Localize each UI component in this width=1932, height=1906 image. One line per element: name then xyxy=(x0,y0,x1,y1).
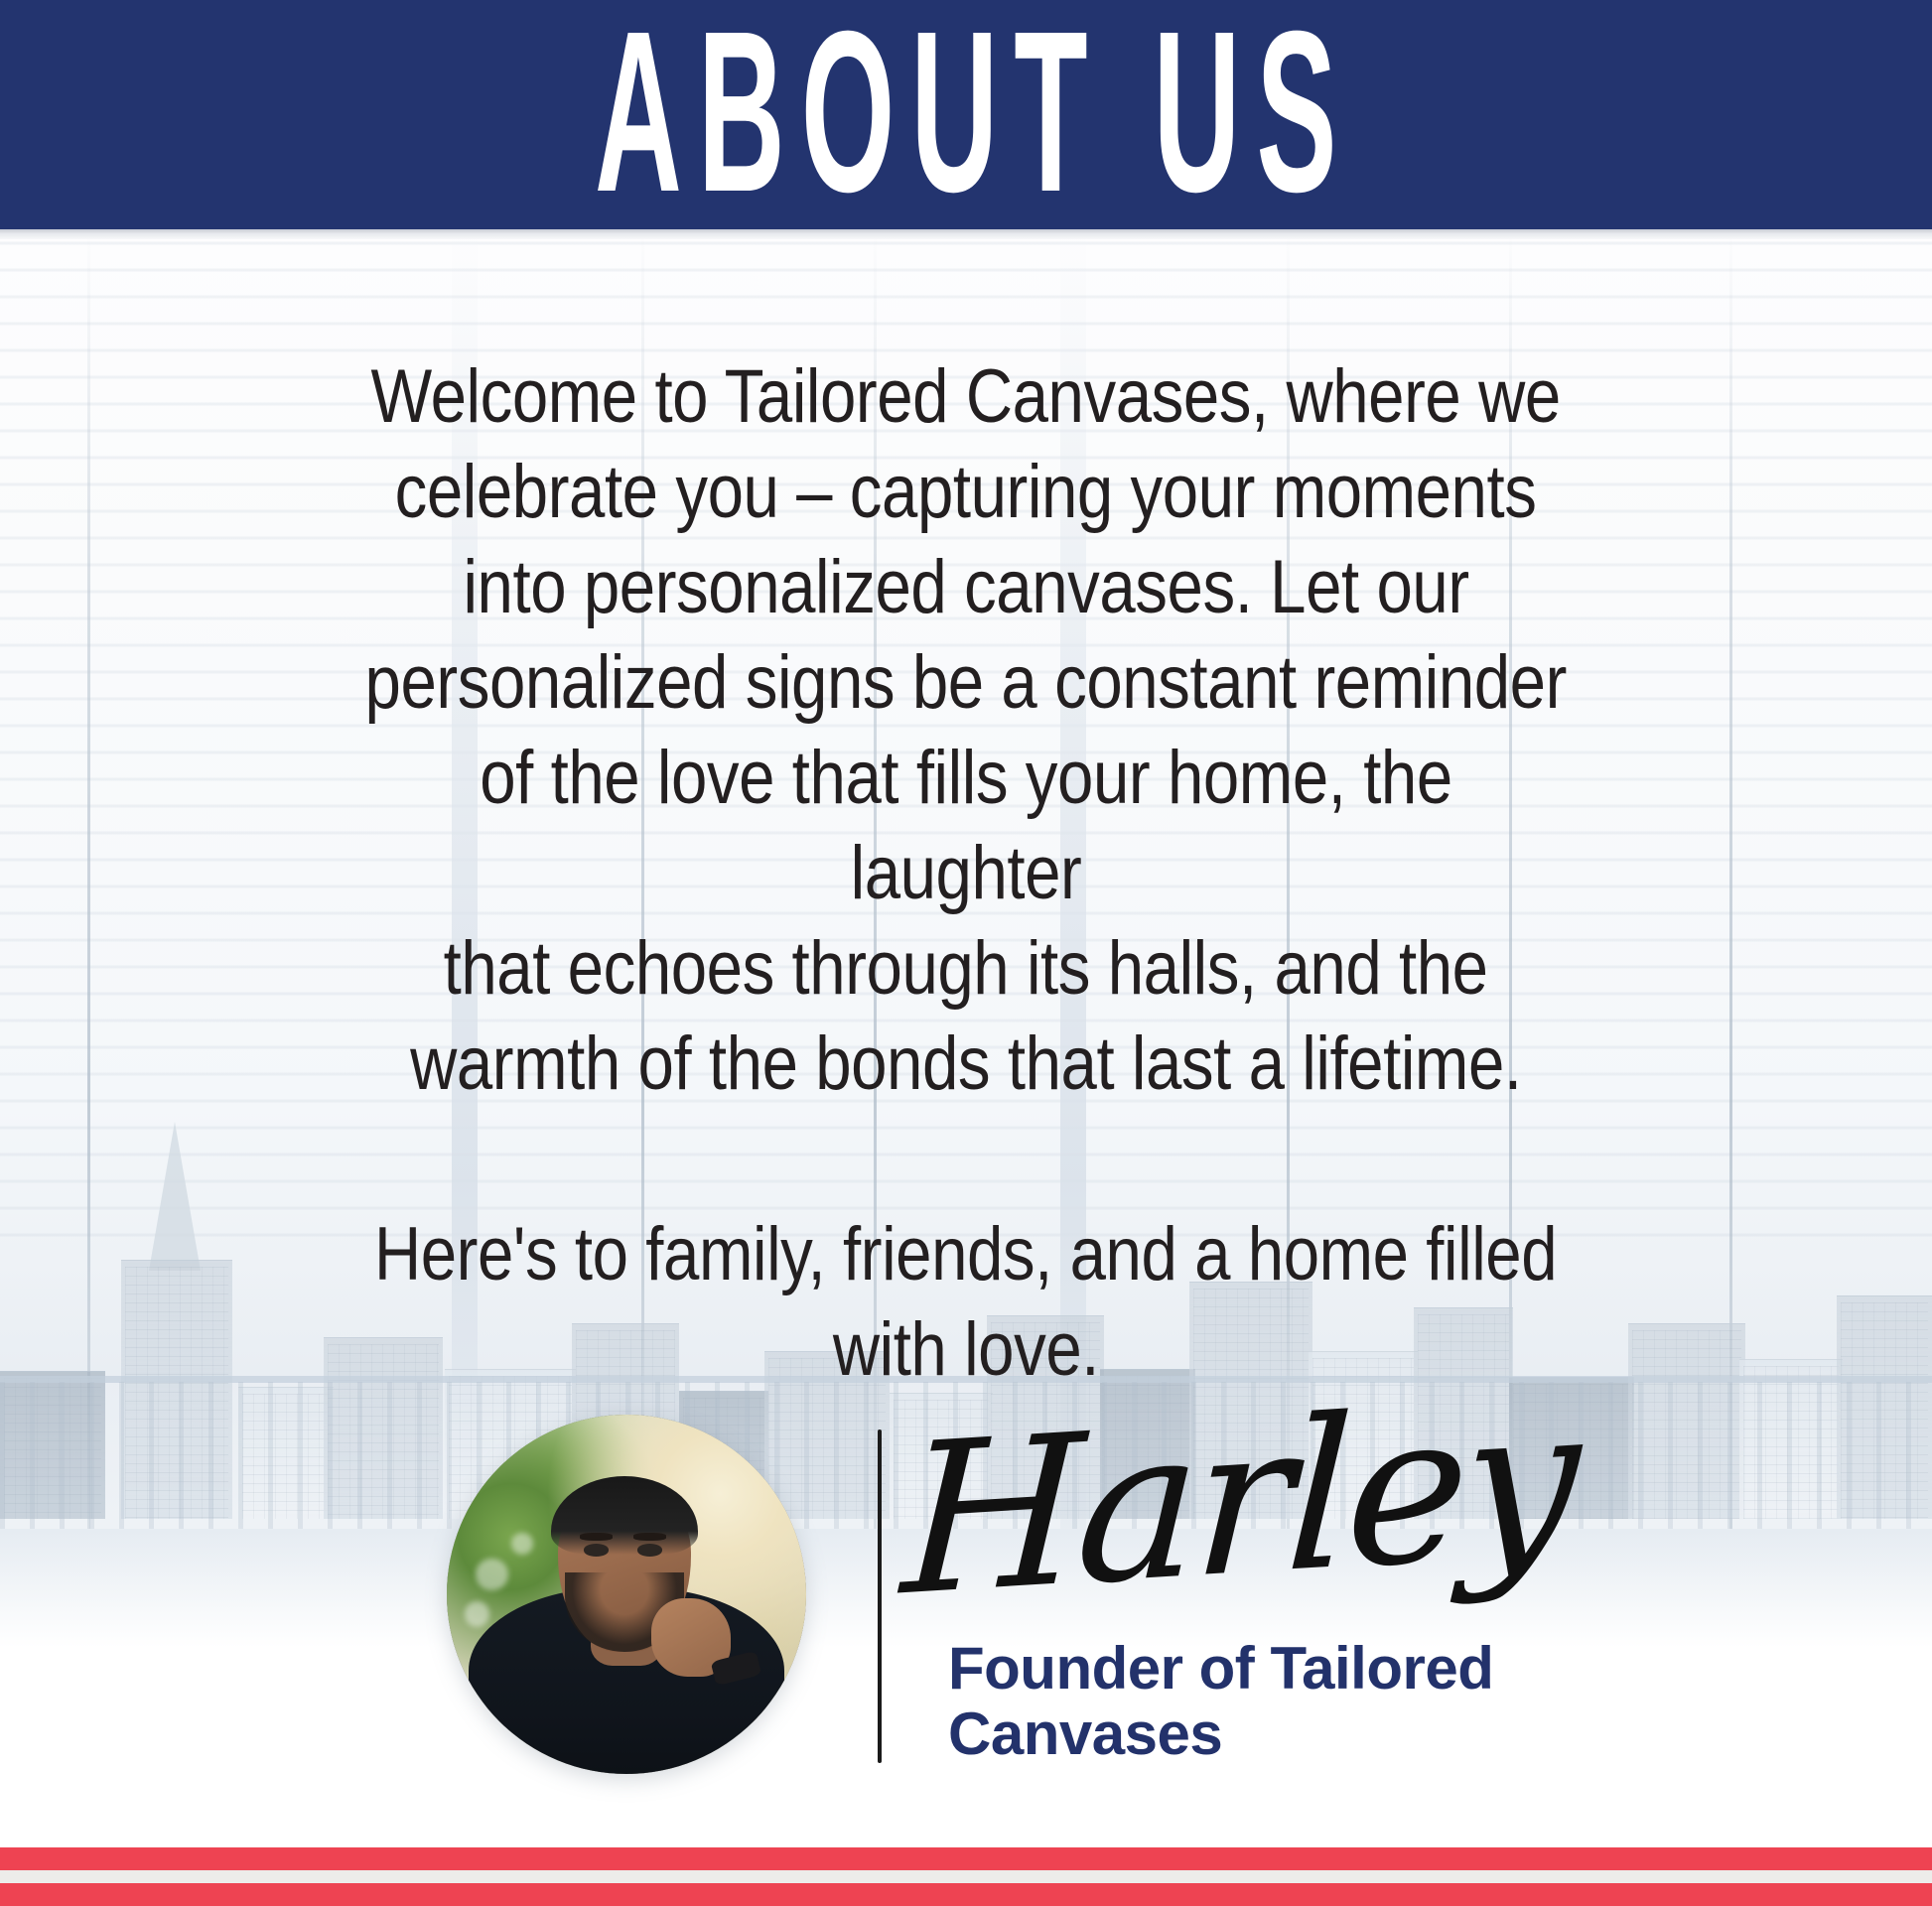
page-title: ABOUT US xyxy=(579,0,1353,226)
footer-bar-bottom xyxy=(0,1883,1932,1906)
body-line: Welcome to Tailored Canvases, where we xyxy=(256,349,1676,445)
header-underline xyxy=(0,229,1932,239)
body-line: that echoes through its halls, and the xyxy=(256,921,1676,1017)
body-line: celebrate you – capturing your moments xyxy=(256,445,1676,540)
signature-divider xyxy=(878,1429,882,1763)
body-line: into personalized canvases. Let our xyxy=(256,540,1676,635)
body-line-text: Here's to family, friends, and a home fi… xyxy=(374,1207,1557,1302)
about-body-text: Welcome to Tailored Canvases, where we c… xyxy=(256,349,1676,1398)
body-line-text: Welcome to Tailored Canvases, where we xyxy=(371,349,1561,445)
avatar-bokeh xyxy=(511,1533,533,1555)
avatar-eyebrow xyxy=(580,1533,613,1540)
founder-signature: Harley xyxy=(897,1339,1525,1666)
body-line-text: warmth of the bonds that last a lifetime… xyxy=(410,1017,1521,1112)
founder-title-line: Founder of Tailored xyxy=(948,1636,1584,1702)
avatar-eye xyxy=(584,1544,609,1556)
body-line: of the love that fills your home, the la… xyxy=(256,731,1676,921)
footer-bar-top xyxy=(0,1847,1932,1870)
footer-bar-gap xyxy=(0,1870,1932,1883)
avatar-bokeh xyxy=(465,1601,489,1626)
header-banner: ABOUT US xyxy=(0,0,1932,229)
body-line: warmth of the bonds that last a lifetime… xyxy=(256,1017,1676,1112)
body-line-text: that echoes through its halls, and the xyxy=(444,921,1488,1017)
avatar-eye xyxy=(637,1544,662,1556)
body-line: personalized signs be a constant reminde… xyxy=(256,635,1676,731)
paragraph-gap xyxy=(256,1112,1676,1207)
body-line-text: celebrate you – capturing your moments xyxy=(395,445,1537,540)
about-us-poster: ABOUT US Welcome to Tailored Canvases, w… xyxy=(0,0,1932,1906)
founder-title: Founder of Tailored Canvases xyxy=(948,1636,1584,1767)
body-line-text: into personalized canvases. Let our xyxy=(463,540,1468,635)
avatar-bokeh xyxy=(476,1559,508,1591)
avatar xyxy=(447,1415,806,1774)
body-line-text: personalized signs be a constant reminde… xyxy=(365,635,1567,731)
body-line: Here's to family, friends, and a home fi… xyxy=(256,1207,1676,1302)
avatar-eyebrow xyxy=(633,1533,666,1540)
founder-title-line: Canvases xyxy=(948,1702,1584,1767)
skyline-spire xyxy=(149,1122,201,1271)
body-line-text: of the love that fills your home, the la… xyxy=(355,731,1577,921)
